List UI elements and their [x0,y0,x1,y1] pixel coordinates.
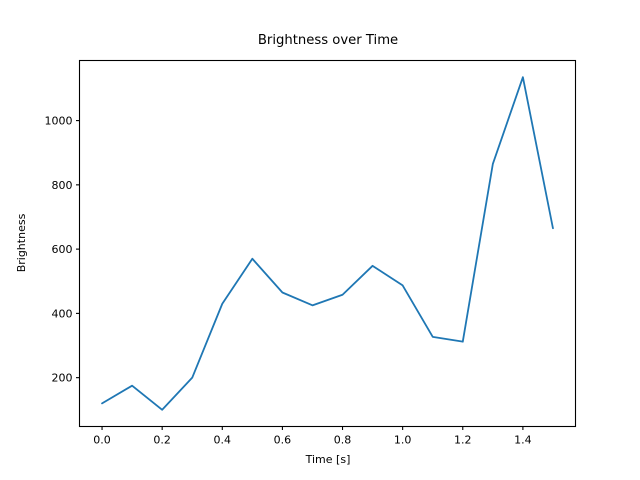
y-tick-label: 800 [52,179,73,192]
line-chart: Brightness over Time 0.00.20.40.60.81.01… [0,0,640,480]
x-tick-label: 1.0 [394,434,412,447]
x-axis-label: Time [s] [305,453,351,466]
matplotlib-figure: Brightness over Time 0.00.20.40.60.81.01… [0,0,640,480]
x-tick-label: 1.2 [454,434,472,447]
x-tick-label: 0.6 [274,434,292,447]
x-tick-label: 0.4 [214,434,232,447]
x-tick-label: 0.8 [334,434,352,447]
chart-title: Brightness over Time [258,33,398,48]
figure-background [0,0,640,480]
y-axis-label: Brightness [15,213,28,272]
x-tick-label: 0.2 [153,434,171,447]
y-tick-label: 1000 [45,115,73,128]
y-tick-label: 600 [52,243,73,256]
y-tick-label: 200 [52,372,73,385]
x-tick-label: 1.4 [514,434,532,447]
x-tick-label: 0.0 [93,434,111,447]
y-tick-label: 400 [52,307,73,320]
